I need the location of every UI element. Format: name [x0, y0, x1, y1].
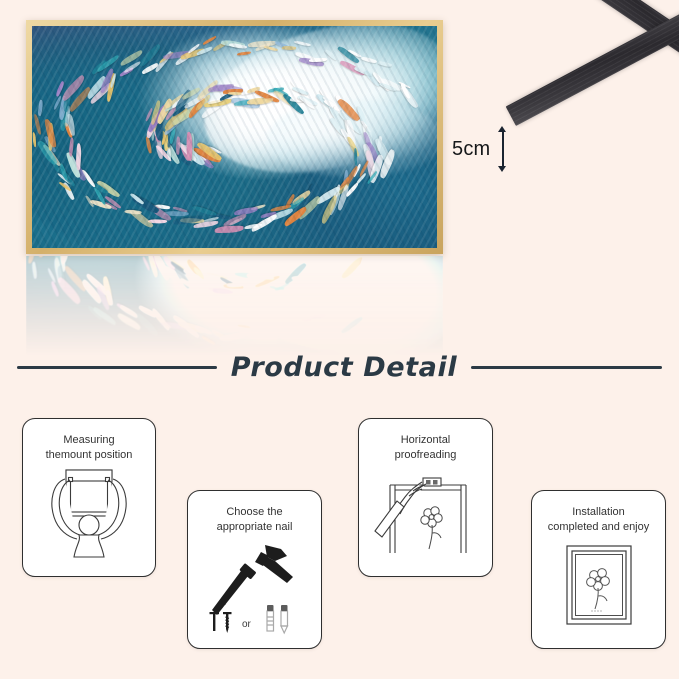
step-card-choose-nail[interactable]: Choose the appropriate nail + — [187, 490, 322, 649]
divider-left — [17, 366, 217, 369]
artwork-canvas — [32, 26, 437, 248]
fish-stroke — [31, 262, 38, 279]
painting-brush-texture — [32, 26, 437, 248]
svg-text:or: or — [242, 619, 252, 630]
fish-stroke — [296, 334, 313, 342]
step-card-label: Measuring themount position — [46, 433, 133, 462]
fish-stroke — [312, 319, 330, 323]
fish-stroke — [364, 315, 381, 324]
divider-right — [471, 366, 662, 369]
depth-label: 5cm — [452, 138, 490, 161]
hero-section: 5cm — [0, 0, 679, 330]
step-card-measuring[interactable]: Measuring themount position — [22, 418, 156, 577]
step-card-installation-complete[interactable]: Installation completed and enjoy — [531, 490, 666, 649]
fish-stroke — [405, 268, 425, 294]
section-header: Product Detail — [0, 344, 679, 390]
artwork-reflection — [26, 256, 443, 356]
person-holding-frame-icon — [31, 462, 147, 568]
step-card-label: Choose the appropriate nail — [217, 505, 293, 534]
step-card-label: Horizontal proofreading — [395, 433, 457, 462]
fish-stroke — [382, 312, 396, 320]
black-wood-frame-corner-sample — [497, 8, 679, 258]
product-detail-page: 5cm Product Detail Measuring themount po… — [0, 0, 679, 679]
hand-leveling-frame-icon — [367, 462, 484, 568]
step-card-label: Installation completed and enjoy — [548, 505, 650, 534]
fish-stroke — [237, 324, 251, 329]
page-title: Product Detail — [231, 352, 457, 383]
hammer-and-nails-icon: + or — [196, 534, 313, 640]
reflection-fish — [26, 256, 443, 356]
fish-stroke — [39, 256, 52, 258]
step-card-horizontal-proofreading[interactable]: Horizontal proofreading — [358, 418, 493, 577]
framed-artwork — [26, 20, 443, 254]
svg-text:+: + — [218, 596, 226, 612]
framed-flower-picture-icon — [540, 534, 657, 640]
installation-steps: Measuring themount position — [0, 405, 679, 679]
